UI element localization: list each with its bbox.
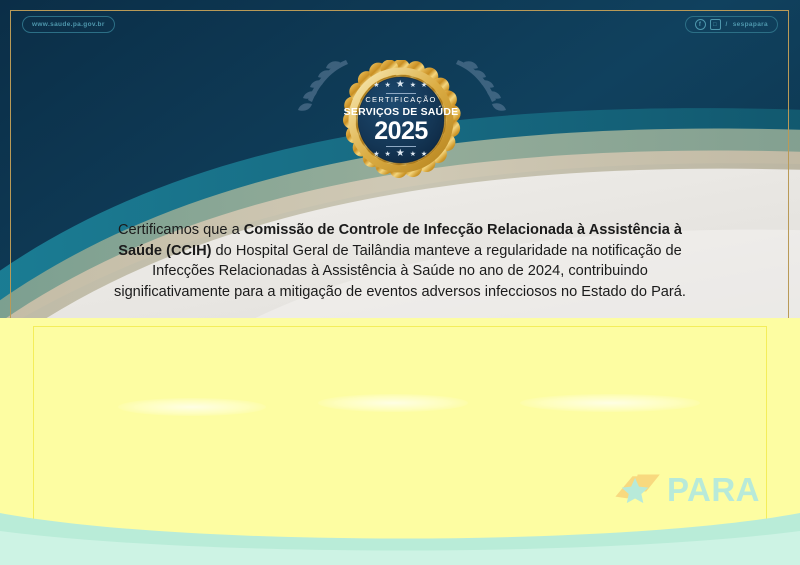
social-handle-badge[interactable]: f □ / sespapara bbox=[685, 16, 778, 33]
social-separator: / bbox=[726, 21, 728, 28]
para-government-logo: PARA bbox=[612, 465, 760, 513]
seal-medallion-icon bbox=[341, 60, 461, 180]
social-handle-text: sespapara bbox=[733, 21, 768, 28]
para-star-emblem-icon bbox=[612, 468, 665, 510]
instagram-icon[interactable]: □ bbox=[710, 19, 721, 30]
certificate-body-text: Certificamos que a Comissão de Controle … bbox=[96, 220, 704, 302]
facebook-icon[interactable]: f bbox=[695, 19, 706, 30]
signature-mark-2 bbox=[318, 394, 468, 412]
signature-mark-3 bbox=[520, 394, 700, 412]
website-url-text: www.saude.pa.gov.br bbox=[32, 21, 105, 28]
certificate-canvas: www.saude.pa.gov.br f □ / sespapara bbox=[0, 0, 800, 565]
website-url-badge[interactable]: www.saude.pa.gov.br bbox=[22, 16, 115, 33]
yellow-overlay-panel bbox=[0, 318, 800, 565]
body-part-0: Certificamos que a bbox=[118, 222, 244, 238]
signature-mark-1 bbox=[118, 398, 266, 416]
certification-seal: ★ ★ ★ ★ ★ CERTIFICAÇÃO SERVIÇOS DE SAÚDE… bbox=[341, 60, 461, 180]
para-logo-text: PARA bbox=[667, 473, 760, 506]
